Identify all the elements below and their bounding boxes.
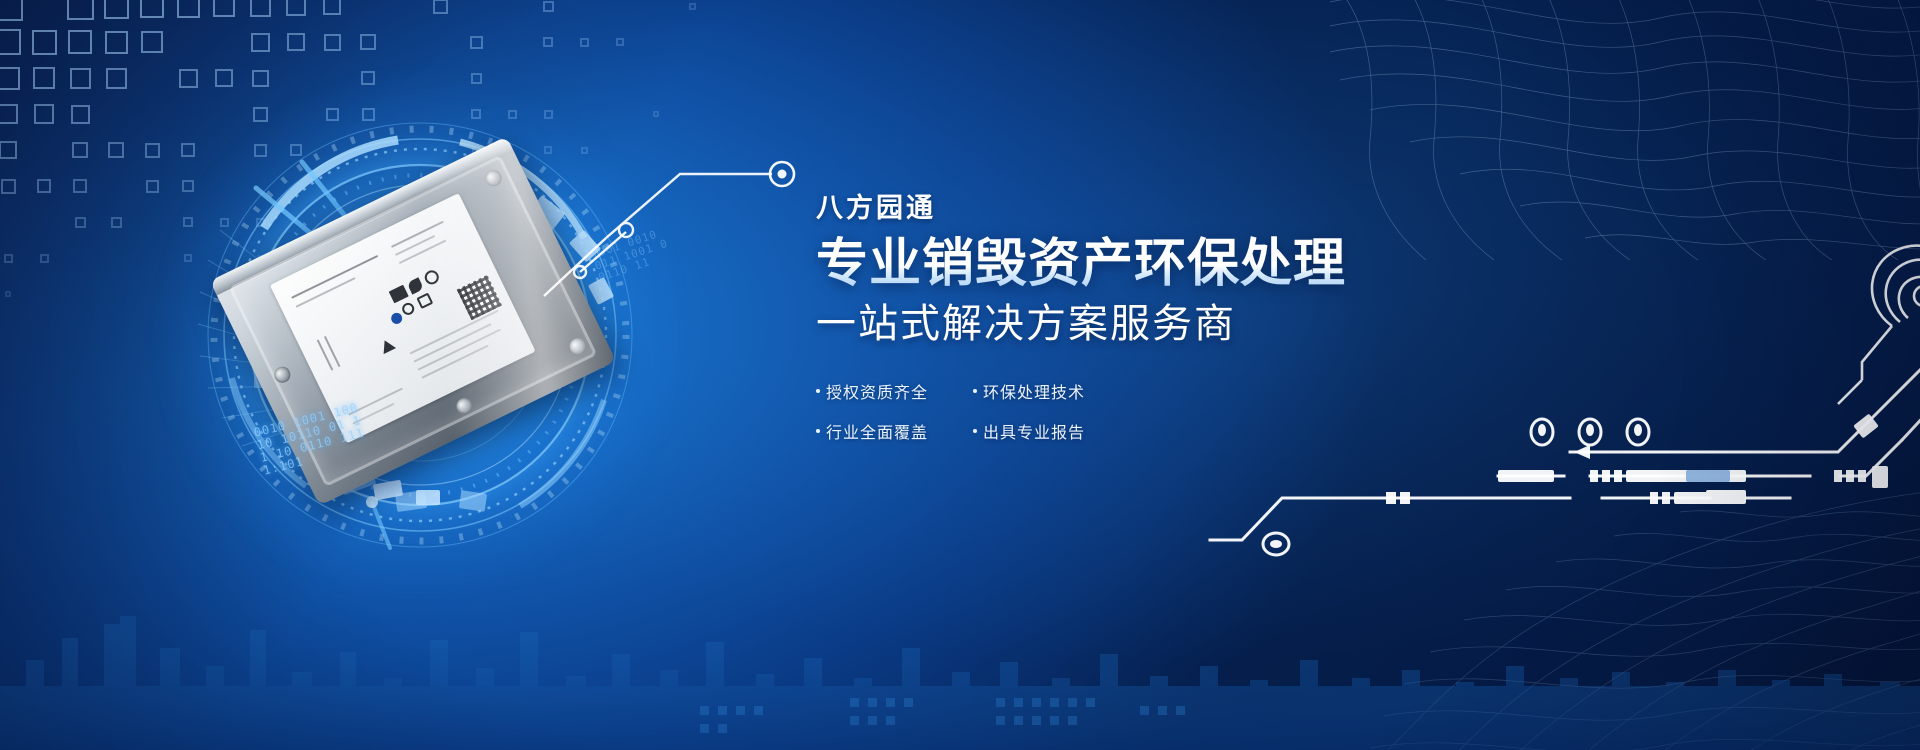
pixel-square — [67, 0, 94, 20]
bullet-dot-icon — [973, 389, 977, 393]
list-item: 出具专业报告 — [973, 419, 1108, 443]
pixel-square — [105, 31, 128, 54]
pixel-square — [324, 34, 341, 51]
pixel-square — [141, 31, 163, 53]
hero-subtitle: 一站式解决方案服务商 — [816, 302, 1376, 347]
pixel-square — [140, 0, 164, 18]
pixel-square — [433, 0, 448, 14]
pixel-square — [543, 1, 554, 12]
pixel-square — [470, 36, 483, 49]
binary-code-decoration-small: 1001 0010011 1001 00110 11 — [590, 182, 810, 284]
pixel-square — [179, 69, 198, 88]
bullet-dot-icon — [973, 429, 977, 433]
pixel-square — [213, 0, 235, 17]
pixel-square — [75, 217, 86, 228]
pixel-square — [183, 217, 193, 227]
pixel-square — [323, 0, 341, 15]
pixel-square — [250, 0, 271, 17]
pixel-square — [146, 180, 159, 193]
pixel-square — [253, 107, 268, 122]
pixel-square — [220, 218, 229, 227]
pixel-square — [580, 38, 589, 47]
pixel-square — [254, 144, 267, 157]
pixel-square — [37, 179, 51, 193]
pixel-square — [1, 179, 16, 194]
pixel-square — [177, 0, 200, 18]
pixel-square — [252, 70, 269, 87]
pixel-square — [471, 73, 482, 84]
pixel-square — [73, 179, 87, 193]
hero-banner: 0010 1001 10010 10110 01 11 10 0110 1111… — [0, 0, 1920, 750]
circuit-arrow — [1574, 445, 1590, 459]
pixel-square — [543, 37, 553, 47]
pixel-square — [544, 110, 553, 119]
pixel-square — [287, 33, 305, 51]
spiral-node-right — [1796, 230, 1920, 410]
pixel-square — [68, 30, 92, 54]
pixel-square — [326, 108, 339, 121]
circuit-node-ring — [770, 162, 794, 186]
pixel-square — [286, 0, 306, 16]
pixel-square — [111, 217, 122, 228]
pixel-square — [34, 104, 54, 124]
pixel-square — [70, 68, 91, 89]
circuit-node-small — [619, 223, 633, 237]
hard-drive-image — [210, 136, 616, 505]
pixel-square — [0, 67, 20, 90]
pixel-square — [361, 71, 375, 85]
pixel-square — [0, 0, 23, 21]
pixel-square — [581, 147, 588, 154]
pixel-square — [71, 105, 90, 124]
pixel-square — [40, 254, 49, 263]
list-item: 行业全面覆盖 — [816, 419, 951, 443]
city-skyline-silhouette — [0, 520, 1920, 750]
pixel-square — [689, 3, 696, 10]
pixel-square — [32, 30, 57, 55]
pixel-square — [104, 0, 129, 19]
pixel-square — [215, 69, 233, 87]
pixel-square — [33, 67, 55, 89]
feature-label: 环保处理技术 — [983, 379, 1085, 403]
wireframe-mesh-top-right — [1330, 0, 1920, 260]
list-item: 环保处理技术 — [973, 379, 1108, 403]
bullet-dot-icon — [816, 429, 820, 433]
hero-copy-block: 八方园通 专业销毁资产环保处理 一站式解决方案服务商 授权资质齐全 环保处理技术… — [816, 186, 1376, 443]
pixel-square — [181, 143, 195, 157]
pixel-square — [0, 141, 17, 159]
feature-label: 行业全面覆盖 — [826, 419, 928, 443]
feature-label: 出具专业报告 — [983, 419, 1085, 443]
pixel-square — [362, 108, 375, 121]
page-title: 专业销毁资产环保处理 — [816, 236, 1376, 292]
pixel-square — [0, 29, 21, 55]
bullet-dot-icon — [816, 389, 820, 393]
wireframe-mesh-bottom-right — [1360, 480, 1920, 750]
pixel-square — [145, 143, 160, 158]
pixel-square — [108, 142, 124, 158]
pixel-square — [653, 111, 659, 117]
pixel-square — [0, 104, 18, 124]
pixel-square — [290, 144, 302, 156]
circuit-node-core — [778, 170, 787, 179]
brand-name: 八方园通 — [816, 186, 1376, 225]
pixel-square — [106, 68, 127, 89]
list-item: 授权资质齐全 — [816, 379, 951, 403]
feature-list: 授权资质齐全 环保处理技术 行业全面覆盖 出具专业报告 — [816, 379, 1136, 443]
pixel-square — [5, 291, 11, 297]
pixel-square — [72, 142, 88, 158]
pixel-square — [182, 180, 194, 192]
pixel-square — [4, 254, 13, 263]
pixel-square — [616, 38, 624, 46]
feature-label: 授权资质齐全 — [826, 379, 928, 403]
pixel-square — [251, 33, 270, 52]
skyline-window-grid — [700, 698, 1185, 733]
pixel-square — [360, 34, 376, 50]
